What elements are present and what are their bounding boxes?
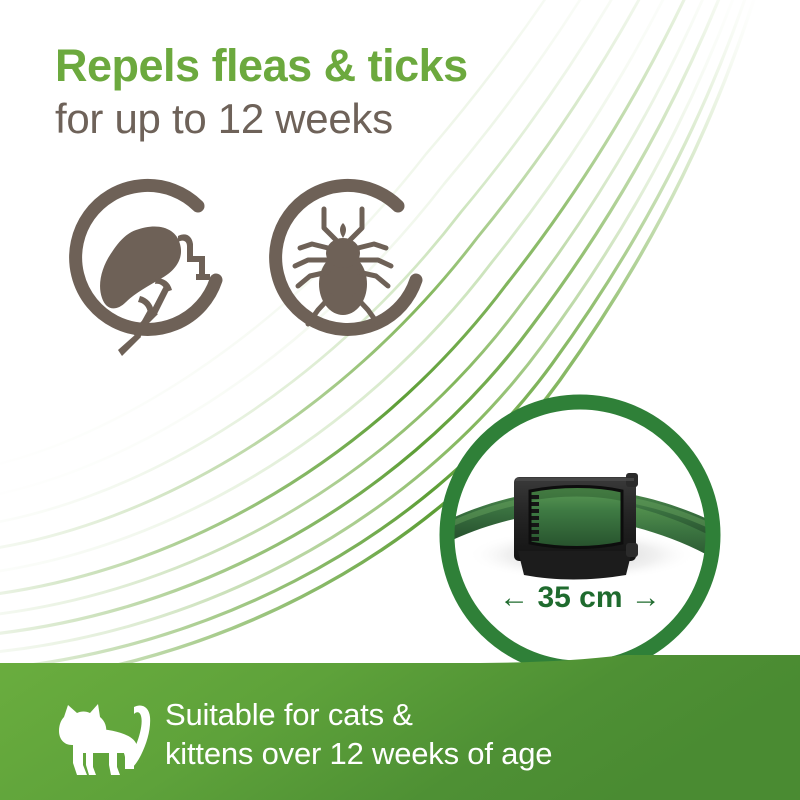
headline-primary: Repels fleas & ticks — [55, 42, 655, 91]
banner-content: Suitable for cats & kittens over 12 week… — [0, 655, 800, 800]
flea-icon — [48, 176, 238, 366]
collar-product-circle: ← 35 cm → — [430, 385, 730, 685]
measurement-text: ← 35 cm → — [499, 581, 661, 614]
cat-icon-wrap — [46, 695, 158, 781]
tick-icon — [248, 176, 438, 366]
headline-secondary: for up to 12 weeks — [55, 95, 655, 142]
banner-text-line2: kittens over 12 weeks of age — [165, 734, 765, 773]
banner-text-line1: Suitable for cats & — [165, 695, 765, 734]
banner-text-block: Suitable for cats & kittens over 12 week… — [165, 695, 765, 773]
product-feature-panel: Repels fleas & ticks for up to 12 weeks — [0, 0, 800, 800]
cat-icon — [46, 695, 158, 781]
measurement-label: ← 35 cm → — [499, 581, 661, 614]
bottom-banner: Suitable for cats & kittens over 12 week… — [0, 655, 800, 800]
headline-block: Repels fleas & ticks for up to 12 weeks — [55, 42, 655, 142]
pest-icon-group — [48, 176, 448, 366]
